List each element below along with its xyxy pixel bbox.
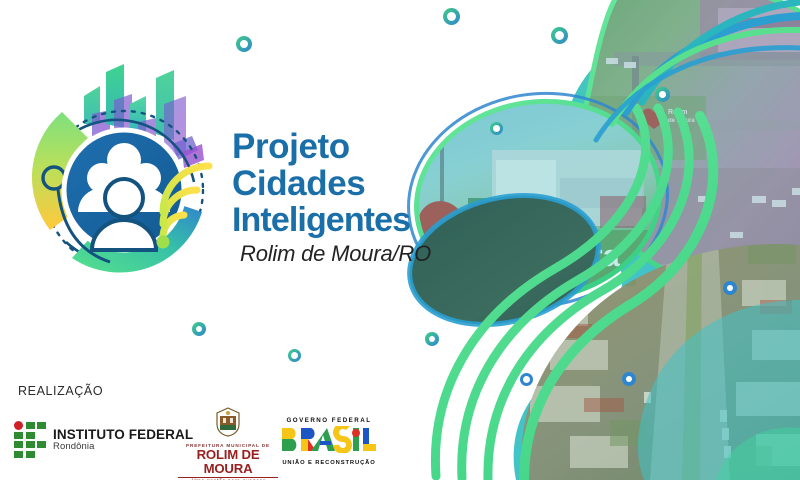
ring-9-icon [520, 373, 533, 386]
title-line-1: Projeto [232, 128, 452, 165]
ring-3-icon [551, 27, 568, 44]
ring-2-icon [443, 8, 460, 25]
smart-city-people-wifi-logo [14, 52, 229, 287]
ring-4-icon [192, 322, 206, 336]
photo-collage: Rolim de Moura Rolim de Moura [400, 0, 800, 480]
ring-8-icon [655, 87, 670, 102]
ring-7-icon [490, 122, 503, 135]
brasil-wordmark-icon [280, 426, 378, 453]
governo-federal-line2: UNIÃO E RECONSTRUÇÃO [280, 460, 378, 466]
prefeitura-divider [178, 477, 278, 478]
instituto-federal-mark-icon [14, 422, 46, 458]
prefeitura-name: ROLIM DE MOURA [172, 448, 284, 476]
governo-federal-line1: GOVERNO FEDERAL [280, 417, 378, 424]
partner-logos: INSTITUTO FEDERAL Rondônia PREFEITURA MU… [0, 415, 400, 475]
poster-canvas: Rolim de Moura Rolim de Moura [0, 0, 800, 480]
page-title: Projeto Cidades Inteligentes Rolim de Mo… [232, 128, 452, 267]
title-line-2: Cidades [232, 165, 452, 202]
ring-10-icon [622, 372, 636, 386]
ring-1-icon [236, 36, 252, 52]
ring-11-icon [723, 281, 737, 295]
partner-logo-instituto-federal: INSTITUTO FEDERAL Rondônia [14, 422, 193, 458]
title-line-3: Inteligentes [232, 202, 452, 238]
ring-6-icon [425, 332, 439, 346]
partner-logo-prefeitura-rolim-de-moura: PREFEITURA MUNICIPAL DE ROLIM DE MOURA U… [172, 407, 284, 480]
partner-logo-governo-federal-brasil: GOVERNO FEDERAL UN [280, 417, 378, 466]
wifi-dot [157, 236, 170, 249]
prefeitura-crest-icon [215, 407, 241, 437]
page-subtitle: Rolim de Moura/RO [240, 241, 452, 267]
ring-5-icon [288, 349, 301, 362]
credits-label: REALIZAÇÃO [18, 384, 103, 398]
